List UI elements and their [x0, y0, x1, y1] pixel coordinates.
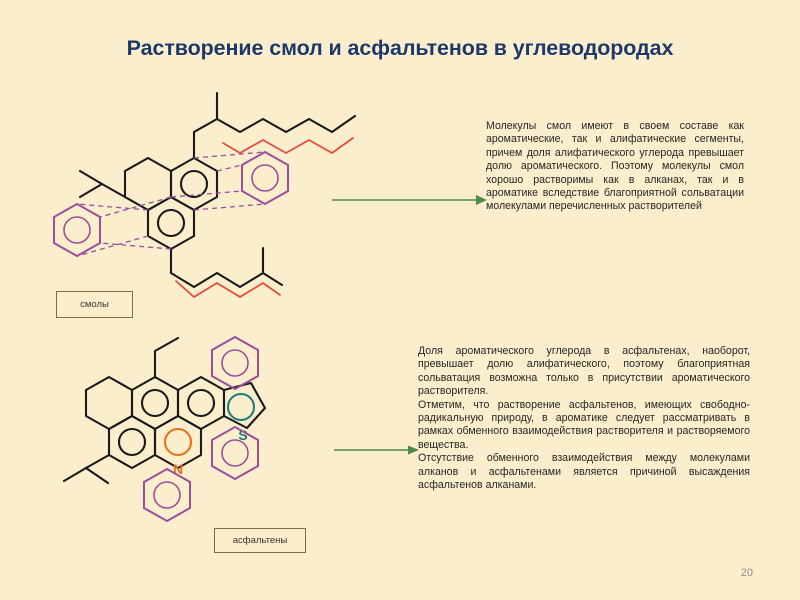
asphaltenes-molecule-diagram: N S	[60, 330, 360, 580]
arrow-resins-to-text	[330, 190, 490, 210]
page-number: 20	[741, 567, 753, 579]
aliphatic-highlight-top	[223, 138, 353, 153]
nitrogen-aromatic-ring-icon	[165, 429, 191, 455]
aromatic-callout-mid-right	[212, 427, 258, 479]
aromatic-callout-bottom	[144, 469, 190, 521]
aromatic-callout-upper-right	[212, 337, 258, 389]
aliphatic-highlight-bottom	[176, 281, 280, 297]
sulfur-aromatic-ring-icon	[228, 394, 254, 420]
arrow-asphaltenes-to-text	[332, 440, 422, 460]
resins-description-text: Молекулы смол имеют в своем составе как …	[486, 120, 744, 214]
resins-paragraph: Молекулы смол имеют в своем составе как …	[486, 120, 744, 214]
asphaltenes-paragraph-3: Отсутствие обменного взаимодействия межд…	[418, 452, 750, 492]
label-box-resins: смолы	[56, 291, 133, 318]
label-resins-text: смолы	[80, 299, 109, 310]
slide-canvas: Растворение смол и асфальтенов в углевод…	[0, 0, 800, 600]
asphaltenes-paragraph-2: Отметим, что растворение асфальтенов, им…	[418, 399, 750, 453]
asphaltenes-paragraph-1: Доля ароматического углерода в асфальтен…	[418, 345, 750, 399]
label-asphaltenes-text: асфальтены	[233, 535, 288, 546]
label-box-asphaltenes: асфальтены	[214, 528, 306, 553]
slide-title: Растворение смол и асфальтенов в углевод…	[0, 36, 800, 61]
asphaltenes-description-text: Доля ароматического углерода в асфальтен…	[418, 345, 750, 492]
